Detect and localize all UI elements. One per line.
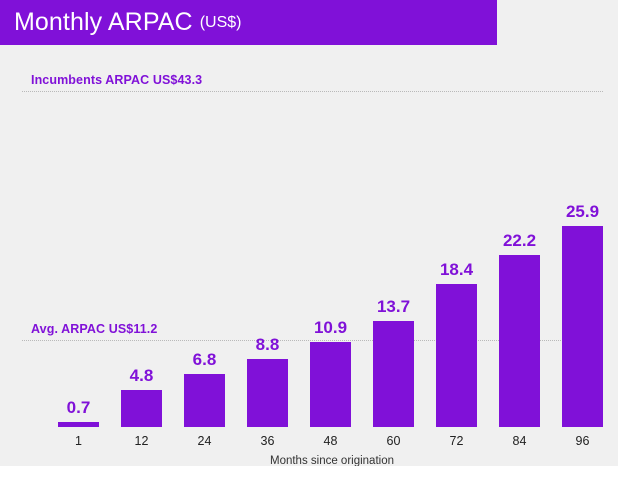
x-axis-tick-label: 60 [366, 434, 422, 448]
bar-value-label: 10.9 [303, 318, 359, 338]
x-axis-tick-label: 96 [555, 434, 611, 448]
bar-chart-plot-area: Incumbents ARPAC US$43.3 Avg. ARPAC US$1… [0, 45, 618, 466]
bar [247, 359, 288, 427]
bottom-margin-strip [0, 466, 618, 480]
x-axis-tick-label: 12 [114, 434, 170, 448]
slide-canvas: Monthly ARPAC (US$) Incumbents ARPAC US$… [0, 0, 618, 466]
x-axis-tick-label: 72 [429, 434, 485, 448]
bar-value-label: 25.9 [555, 202, 611, 222]
reference-label-incumbents: Incumbents ARPAC US$43.3 [31, 73, 202, 87]
bar-value-label: 8.8 [240, 335, 296, 355]
x-axis-tick-label: 24 [177, 434, 233, 448]
bar-value-label: 6.8 [177, 350, 233, 370]
bar [562, 226, 603, 427]
bar-value-label: 22.2 [492, 231, 548, 251]
reference-line-incumbents [22, 91, 603, 92]
x-axis-tick-label: 1 [51, 434, 107, 448]
bar-value-label: 0.7 [51, 398, 107, 418]
bar-value-label: 18.4 [429, 260, 485, 280]
bar [184, 374, 225, 427]
x-axis-title: Months since origination [232, 455, 432, 466]
bar-value-label: 13.7 [366, 297, 422, 317]
bar [436, 284, 477, 427]
page-title-units: (US$) [200, 15, 242, 31]
bar [121, 390, 162, 427]
chart-screenshot: Monthly ARPAC (US$) Incumbents ARPAC US$… [0, 0, 618, 480]
title-banner: Monthly ARPAC (US$) [0, 0, 497, 45]
x-axis-tick-label: 36 [240, 434, 296, 448]
bar [310, 342, 351, 427]
bar [499, 255, 540, 427]
x-axis-tick-label: 48 [303, 434, 359, 448]
page-title: Monthly ARPAC [14, 10, 193, 35]
x-axis-tick-label: 84 [492, 434, 548, 448]
bar [373, 321, 414, 427]
bar-value-label: 4.8 [114, 366, 170, 386]
reference-label-average: Avg. ARPAC US$11.2 [31, 322, 157, 336]
bar [58, 422, 99, 427]
